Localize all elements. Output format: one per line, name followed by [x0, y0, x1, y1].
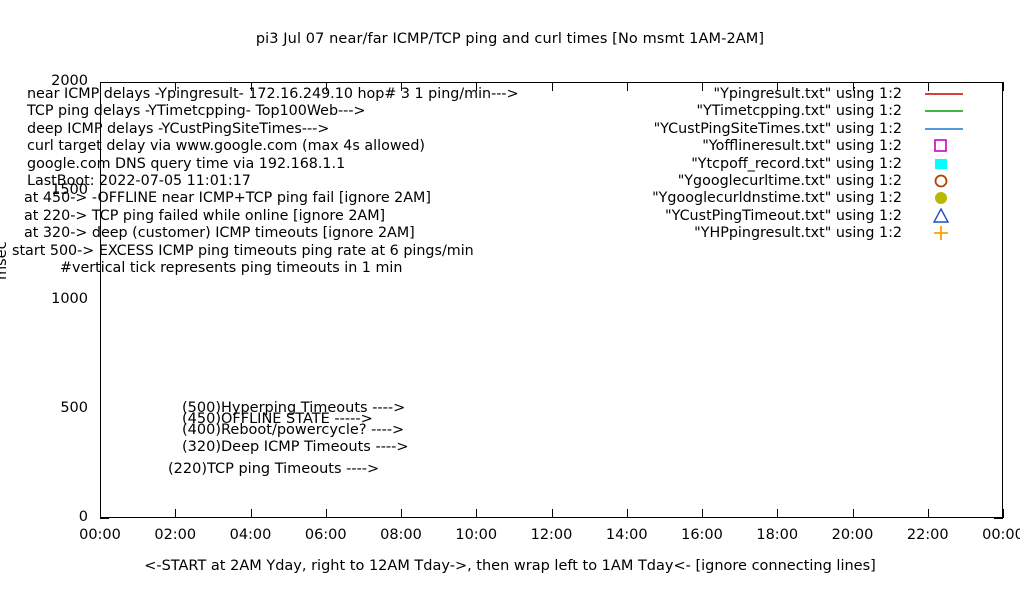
x-tickmark — [1003, 509, 1004, 518]
x-axis-caption: <-START at 2AM Yday, right to 12AM Tday-… — [0, 558, 1020, 574]
chart-page: pi3 Jul 07 near/far ICMP/TCP ping and cu… — [0, 0, 1020, 600]
x-tickmark — [401, 509, 402, 518]
x-tickmark — [702, 509, 703, 518]
y-tickmark — [994, 518, 1003, 519]
legend-description-10: #vertical tick represents ping timeouts … — [0, 260, 560, 277]
x-tick-label: 22:00 — [893, 527, 963, 543]
x-tickmark — [1003, 82, 1004, 91]
legend-entry-label-5: "Ygooglecurltime.txt" using 1:2 — [430, 173, 902, 190]
legend-entry-label-4: "Ytcpoff_record.txt" using 1:2 — [430, 156, 902, 173]
x-tickmark — [928, 509, 929, 518]
x-tick-label: 12:00 — [517, 527, 587, 543]
y-tick-0: 0 — [28, 509, 88, 525]
legend-entry-label-6: "Ygooglecurldnstime.txt" using 1:2 — [430, 190, 902, 207]
y-tickmark — [100, 518, 109, 519]
annotation-400: (400)Reboot/powercycle? ----> — [182, 422, 404, 438]
legend-entry-label-8: "YHPpingresult.txt" using 1:2 — [430, 225, 902, 242]
x-tick-label: 00:00 — [968, 527, 1020, 543]
x-tick-label: 04:00 — [216, 527, 286, 543]
x-tick-label: 00:00 — [65, 527, 135, 543]
legend-entry-label-1: "YTimetcpping.txt" using 1:2 — [430, 103, 902, 120]
x-tick-label: 18:00 — [742, 527, 812, 543]
legend-key-hp-ping — [925, 225, 965, 245]
x-tickmark — [627, 509, 628, 518]
x-tickmark — [853, 509, 854, 518]
x-tick-label: 06:00 — [291, 527, 361, 543]
x-tick-label: 14:00 — [592, 527, 662, 543]
legend-entry-label-0: "Ypingresult.txt" using 1:2 — [430, 86, 902, 103]
x-tick-label: 20:00 — [818, 527, 888, 543]
chart-title: pi3 Jul 07 near/far ICMP/TCP ping and cu… — [0, 31, 1020, 47]
x-tickmark — [476, 509, 477, 518]
legend-entry-label-3: "Yofflineresult.txt" using 1:2 — [430, 138, 902, 155]
x-tick-label: 16:00 — [667, 527, 737, 543]
legend-entry-label-2: "YCustPingSiteTimes.txt" using 1:2 — [430, 121, 902, 138]
x-tickmark — [175, 509, 176, 518]
x-tickmark — [326, 509, 327, 518]
x-tick-label: 02:00 — [140, 527, 210, 543]
x-tickmark — [552, 509, 553, 518]
x-tickmark — [100, 509, 101, 518]
y-tick-500: 500 — [28, 400, 88, 416]
x-tick-label: 10:00 — [441, 527, 511, 543]
x-tick-label: 08:00 — [366, 527, 436, 543]
x-tickmark — [777, 509, 778, 518]
legend-description-9: start 500-> EXCESS ICMP ping timeouts pi… — [0, 243, 560, 260]
annotation-220: (220)TCP ping Timeouts ----> — [168, 461, 379, 477]
x-tickmark — [251, 509, 252, 518]
y-tick-1000: 1000 — [28, 291, 88, 307]
legend-entry-label-7: "YCustPingTimeout.txt" using 1:2 — [430, 208, 902, 225]
annotation-320: (320)Deep ICMP Timeouts ----> — [182, 439, 409, 455]
